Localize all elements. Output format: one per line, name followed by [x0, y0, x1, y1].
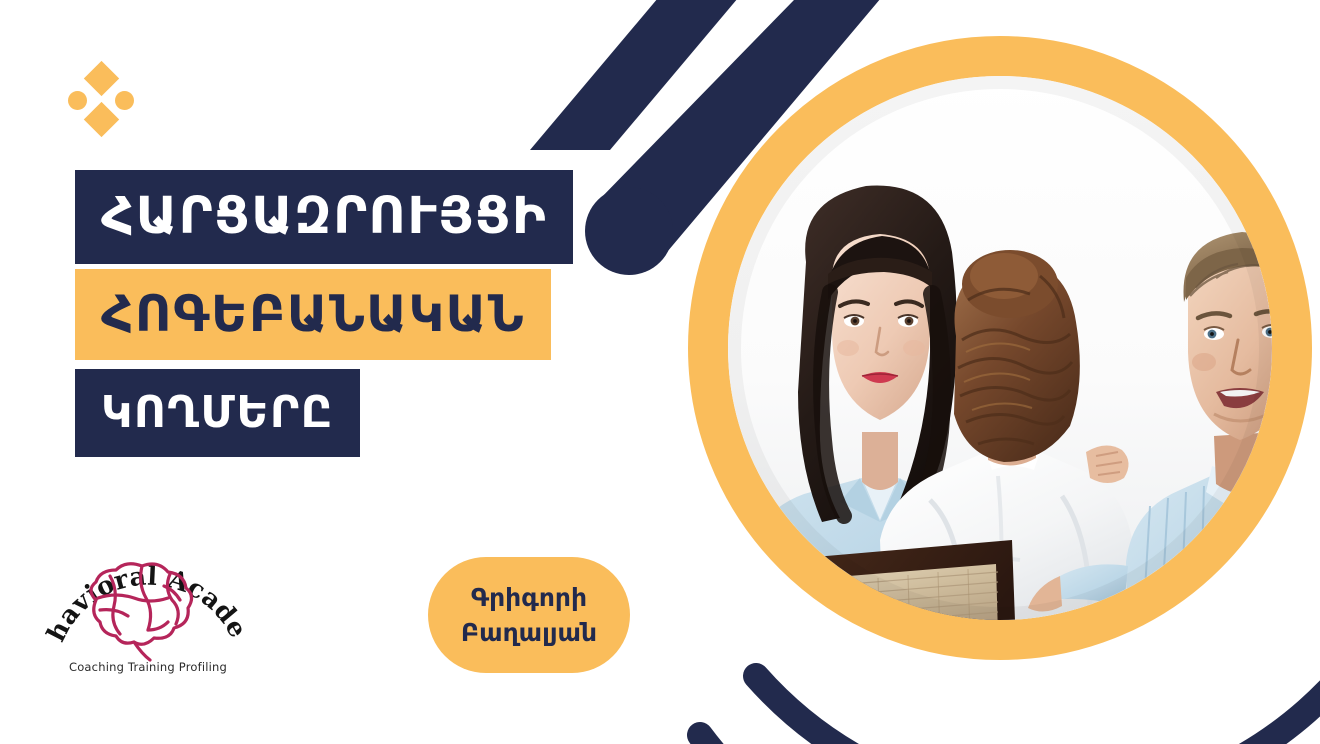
diamond-top-icon	[84, 61, 119, 96]
navy-far-arc	[700, 250, 1320, 744]
title-line-3: ԿՈՂՄԵՐԸ	[75, 369, 360, 457]
title-line-2: ՀՈԳԵԲԱՆԱԿԱՆ	[75, 269, 551, 360]
slide-canvas: ՀԱՐՑԱԶՐՈՒՅՑԻ ՀՈԳԵԲԱՆԱԿԱՆ ԿՈՂՄԵՐԸ Behavio…	[0, 0, 1320, 744]
amber-top-right-wedge	[690, 0, 1320, 620]
logo-tagline: Coaching Training Profiling	[38, 660, 258, 674]
speaker-first-name: Գրիգորի	[471, 580, 587, 616]
interview-photo	[720, 70, 1306, 662]
navy-outer-arc	[756, 160, 1320, 744]
speaker-last-name: Բաղալյան	[461, 615, 597, 651]
diamond-bottom-icon	[84, 102, 119, 137]
circle-right-icon	[115, 91, 134, 110]
title-line-1: ՀԱՐՑԱԶՐՈՒՅՑԻ	[75, 170, 573, 264]
diamond-cluster-decoration	[66, 64, 138, 136]
page-title: ՀԱՐՑԱԶՐՈՒՅՑԻ ՀՈԳԵԲԱՆԱԿԱՆ ԿՈՂՄԵՐԸ	[75, 170, 573, 457]
speaker-name-badge: Գրիգորի Բաղալյան	[428, 557, 630, 673]
behavioral-academy-logo: Behavioral Academy Coaching Training Pro…	[38, 532, 258, 692]
circle-left-icon	[68, 91, 87, 110]
logo-arc-text: Behavioral Academy	[38, 532, 253, 647]
navy-diagonal-bars	[530, 0, 913, 275]
amber-photo-ring	[708, 56, 1292, 640]
